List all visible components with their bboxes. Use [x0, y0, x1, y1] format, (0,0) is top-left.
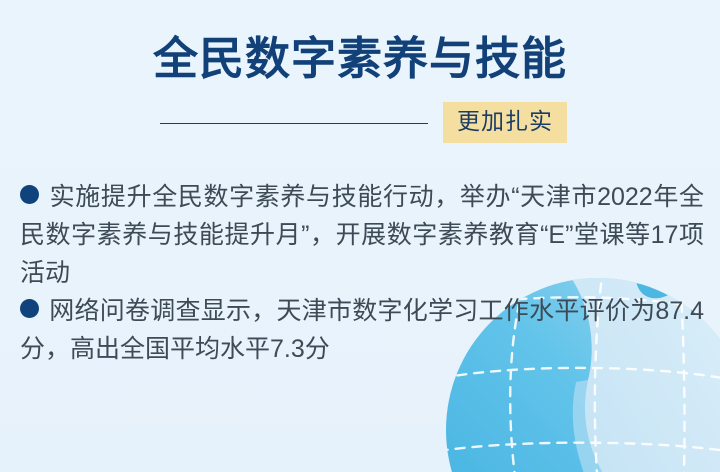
bullet-circle-icon	[20, 299, 39, 318]
list-item: 实施提升全民数字素养与技能行动，举办“天津市2022年全民数字素养与技能提升月”…	[20, 178, 704, 292]
poster-canvas: 全民数字素养与技能 更加扎实 实施提升全民数字素养与技能行动，举办“天津市202…	[0, 0, 720, 472]
status-badge: 更加扎实	[443, 102, 567, 143]
list-item-text: 实施提升全民数字素养与技能行动，举办“天津市2022年全民数字素养与技能提升月”…	[20, 183, 704, 287]
poster-header: 全民数字素养与技能 更加扎实	[0, 30, 720, 150]
page-title: 全民数字素养与技能	[0, 30, 720, 88]
divider-line	[160, 123, 428, 124]
list-item: 网络问卷调查显示，天津市数字化学习工作水平评价为87.4分，高出全国平均水平7.…	[20, 292, 704, 368]
title-subrow: 更加扎实	[0, 102, 720, 142]
list-item-text: 网络问卷调查显示，天津市数字化学习工作水平评价为87.4分，高出全国平均水平7.…	[20, 297, 704, 363]
bullet-circle-icon	[20, 185, 39, 204]
body-copy: 实施提升全民数字素养与技能行动，举办“天津市2022年全民数字素养与技能提升月”…	[20, 178, 704, 368]
